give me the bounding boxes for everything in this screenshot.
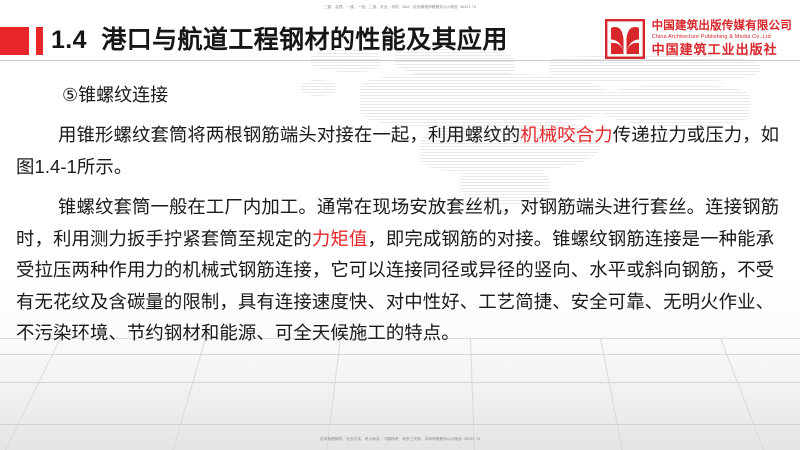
sub-heading: ⑤锥螺纹连接 — [62, 80, 800, 110]
perspective-floor-grid — [0, 332, 800, 450]
open-book-mark-icon — [605, 19, 645, 59]
logo-company-en: China Architecture Publishing & Media Co… — [652, 35, 792, 41]
page-title: 1.4 港口与航道工程钢材的性能及其应用 — [51, 23, 508, 57]
p1-seg-0: 用锥形螺纹套筒将两根钢筋端头对接在一起，利用螺纹的 — [58, 124, 520, 145]
top-watermark-text: 二建、监理、一建、一造、二造、安全、消防、BIM、检测课程押题服务QQ/微信: … — [0, 5, 800, 10]
header-divider — [0, 60, 800, 61]
logo-press-cn: 中国建筑工业出版社 — [652, 44, 792, 57]
accent-bar-wide — [0, 27, 29, 55]
p2-highlight-torque-value: 力矩值 — [312, 228, 367, 249]
p1-highlight-mechanical-bite-force: 机械咬合力 — [520, 124, 612, 145]
bottom-watermark-text: 名师鱼理辅导、全含内讲、考点串讲、习题精考、考前三天练、冲刺押题服务QQ/微信:… — [0, 437, 800, 442]
accent-bar-thin — [36, 27, 43, 55]
publisher-logo: 中国建筑出版传媒有限公司 China Architecture Publishi… — [605, 19, 792, 59]
title-number: 1.4 — [51, 26, 87, 54]
title-text: 港口与航道工程钢材的性能及其应用 — [101, 26, 507, 54]
paragraph-1: 用锥形螺纹套筒将两根钢筋端头对接在一起，利用螺纹的机械咬合力传递拉力或压力，如图… — [16, 119, 786, 182]
logo-company-cn: 中国建筑出版传媒有限公司 — [652, 21, 792, 33]
paragraph-2: 锥螺纹套筒一般在工厂内加工。通常在现场安放套丝机，对钢筋端头进行套丝。连接钢筋时… — [16, 191, 786, 349]
slide-body: ⑤锥螺纹连接 用锥形螺纹套筒将两根钢筋端头对接在一起，利用螺纹的机械咬合力传递拉… — [0, 80, 800, 349]
presentation-slide: 二建、监理、一建、一造、二造、安全、消防、BIM、检测课程押题服务QQ/微信: … — [0, 0, 800, 450]
